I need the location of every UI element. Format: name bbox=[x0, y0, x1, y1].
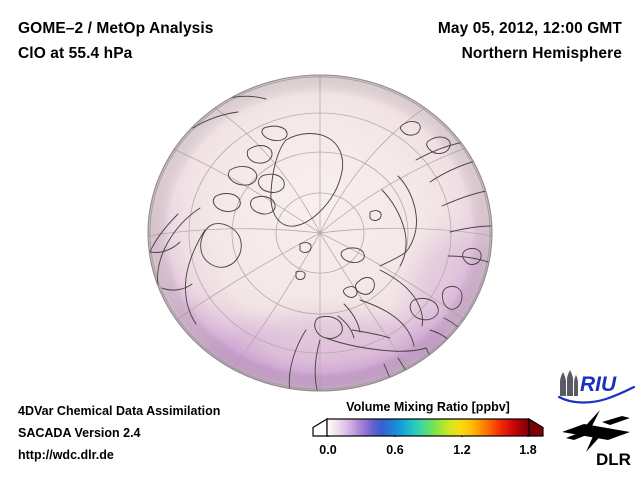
colorbar-bar bbox=[312, 418, 544, 437]
riu-spires-icon bbox=[560, 370, 578, 396]
riu-wordmark: RIU bbox=[580, 373, 617, 396]
colorbar-tick-3: 1.8 bbox=[519, 443, 536, 457]
globe-outline bbox=[148, 75, 492, 391]
colorbar-left-arrow bbox=[313, 419, 327, 436]
coastlines bbox=[144, 96, 492, 418]
colorbar-tick-2: 1.2 bbox=[453, 443, 470, 457]
header-right: May 05, 2012, 12:00 GMT Northern Hemisph… bbox=[438, 16, 622, 66]
url-label[interactable]: http://wdc.dlr.de bbox=[18, 444, 220, 466]
dlr-logo-svg: DLR bbox=[560, 408, 636, 470]
riu-logo: RIU bbox=[556, 370, 636, 404]
colorbar-title: Volume Mixing Ratio [ppbv] bbox=[312, 400, 544, 414]
graticule-meridians bbox=[148, 75, 492, 391]
dlr-emblem-icon bbox=[562, 410, 630, 452]
header-left: GOME–2 / MetOp Analysis ClO at 55.4 hPa bbox=[18, 16, 214, 66]
graticule-latitudes bbox=[150, 77, 490, 389]
globe-limb-shading bbox=[148, 75, 492, 391]
footer-text: 4DVar Chemical Data Assimilation SACADA … bbox=[18, 400, 220, 466]
version-label: SACADA Version 2.4 bbox=[18, 422, 220, 444]
method-label: 4DVar Chemical Data Assimilation bbox=[18, 400, 220, 422]
globe-disc bbox=[148, 75, 492, 391]
colorbar-svg bbox=[312, 418, 544, 437]
species-level-title: ClO at 55.4 hPa bbox=[18, 41, 214, 66]
figure-canvas: GOME–2 / MetOp Analysis ClO at 55.4 hPa … bbox=[0, 0, 640, 480]
colorbar-tick-labels: 0.0 0.6 1.2 1.8 bbox=[312, 440, 544, 460]
timestamp-label: May 05, 2012, 12:00 GMT bbox=[438, 16, 622, 41]
colorbar: Volume Mixing Ratio [ppbv] bbox=[312, 400, 544, 460]
dlr-wordmark: DLR bbox=[596, 450, 631, 469]
dlr-logo: DLR bbox=[560, 408, 636, 470]
hemisphere-label: Northern Hemisphere bbox=[438, 41, 622, 66]
colorbar-tick-1: 0.6 bbox=[386, 443, 403, 457]
colorbar-gradient bbox=[327, 419, 529, 436]
colorbar-tick-0: 0.0 bbox=[319, 443, 336, 457]
clo-field-overlay bbox=[138, 75, 503, 406]
riu-logo-svg: RIU bbox=[556, 370, 636, 404]
instrument-title: GOME–2 / MetOp Analysis bbox=[18, 16, 214, 41]
colorbar-right-arrow bbox=[529, 419, 543, 436]
